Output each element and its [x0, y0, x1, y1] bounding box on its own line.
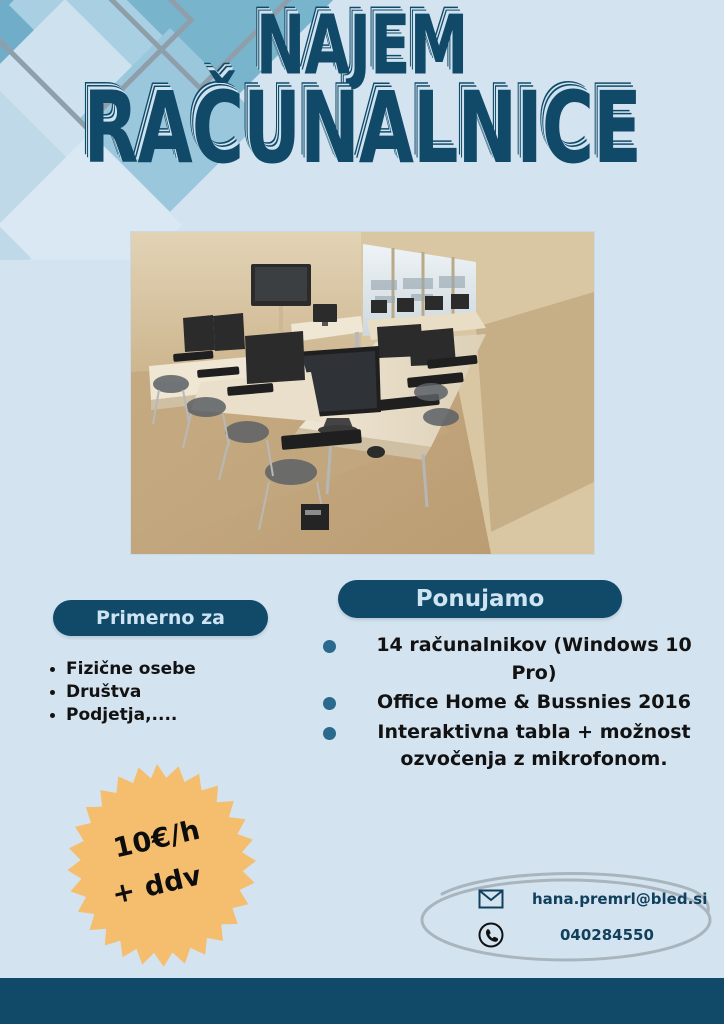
price-starburst-badge: 10€/h + ddv: [54, 762, 260, 968]
list-item: Podjetja,....: [66, 704, 316, 727]
contact-email-row[interactable]: hana.premrl@bled.si: [474, 884, 707, 914]
contact-phone-row[interactable]: 040284550: [474, 920, 654, 950]
primerno-za-list: Fizične osebe Društva Podjetja,....: [44, 658, 316, 726]
list-item: Interaktivna tabla + možnost ozvočenja z…: [313, 719, 713, 774]
poster-title-line-2: RAČUNALNICE: [0, 78, 724, 148]
list-item: Društva: [66, 681, 316, 704]
list-item: Fizične osebe: [66, 658, 316, 681]
phone-icon: [474, 920, 508, 950]
envelope-icon: [474, 884, 508, 914]
poster-title-line-1: NAJEM: [0, 4, 724, 62]
contact-block: hana.premrl@bled.si 040284550: [418, 872, 714, 964]
bottom-accent-bar: [0, 978, 724, 1024]
computer-classroom-photo: [131, 232, 594, 554]
list-item: 14 računalnikov (Windows 10 Pro): [313, 632, 713, 687]
contact-email-text[interactable]: hana.premrl@bled.si: [532, 890, 707, 908]
list-item: Office Home & Bussnies 2016: [313, 689, 713, 717]
poster-canvas: NAJEM RAČUNALNICE: [0, 0, 724, 1024]
ponujamo-heading: Ponujamo: [338, 580, 622, 618]
ponujamo-list: 14 računalnikov (Windows 10 Pro) Office …: [313, 632, 713, 776]
ponujamo-label: Ponujamo: [416, 586, 545, 612]
contact-phone-text[interactable]: 040284550: [560, 926, 654, 944]
primerno-za-heading: Primerno za: [53, 600, 268, 636]
primerno-za-label: Primerno za: [96, 607, 225, 629]
classroom-illustration: [131, 232, 594, 554]
title-text-racunalnice: RAČUNALNICE: [83, 78, 640, 177]
